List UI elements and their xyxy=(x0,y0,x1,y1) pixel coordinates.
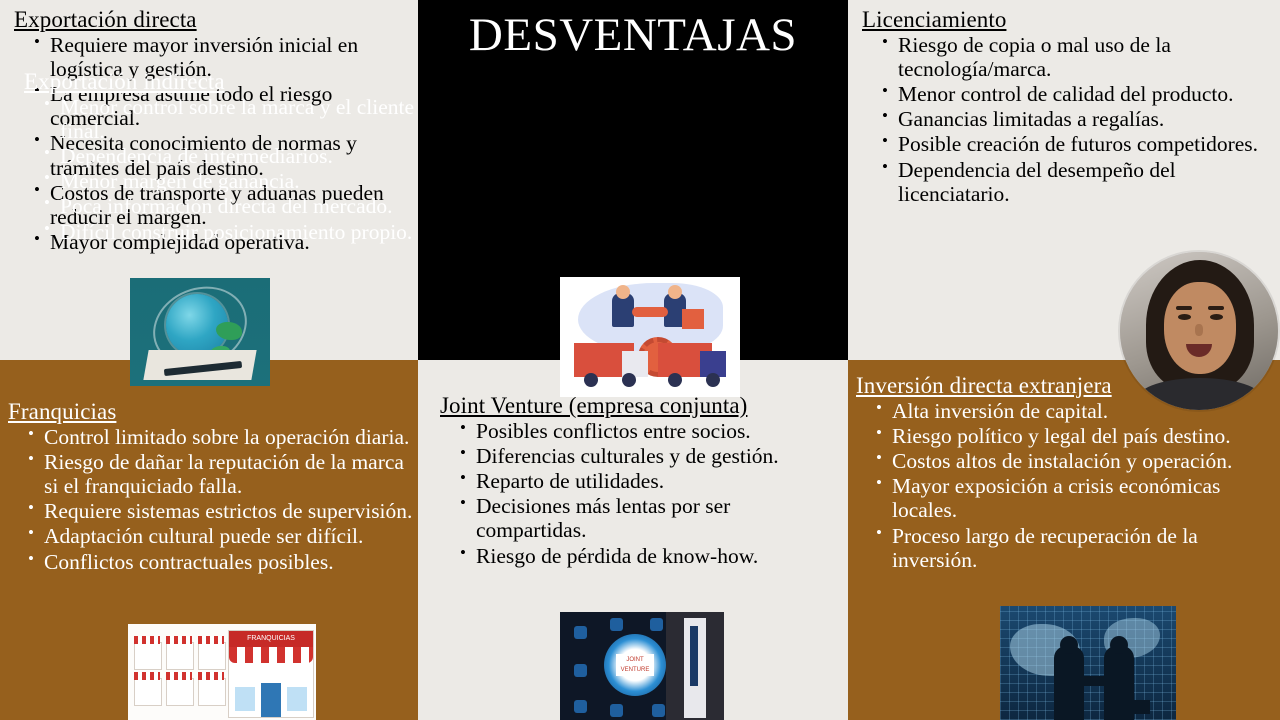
silhouette-head-icon xyxy=(1060,636,1078,654)
presenter-eyebrow xyxy=(1208,306,1224,310)
bullet-list-joint-venture: Posibles conflictos entre socios. Difere… xyxy=(440,419,840,567)
list-item: Riesgo de copia o mal uso de la tecnolog… xyxy=(882,33,1262,81)
network-node-icon xyxy=(650,618,663,631)
list-item: Posibles conflictos entre socios. xyxy=(460,419,840,443)
list-item: Ganancias limitadas a regalías. xyxy=(882,107,1262,131)
network-node-icon xyxy=(574,700,587,713)
network-node-icon xyxy=(574,664,587,677)
slide-title: DESVENTAJAS xyxy=(418,12,848,59)
wheel-icon xyxy=(584,373,598,387)
store-icon xyxy=(198,678,226,706)
store-icon xyxy=(134,642,162,670)
wheel-icon xyxy=(706,373,720,387)
businessman-tie xyxy=(690,626,698,686)
list-item: Control limitado sobre la operación diar… xyxy=(28,425,416,449)
heading-exportacion-directa: Exportación directa xyxy=(14,8,412,32)
store-awning xyxy=(229,647,313,663)
store-window xyxy=(235,687,255,711)
list-item: Diferencias culturales y de gestión. xyxy=(460,444,840,468)
bullet-list-exportacion-indirecta: Menor control sobre la marca y el client… xyxy=(24,95,424,243)
list-item: Decisiones más lentas por ser compartida… xyxy=(460,494,840,542)
presenter-eye xyxy=(1178,314,1191,320)
heading-licenciamiento: Licenciamiento xyxy=(862,8,1262,32)
list-item: Menor control de calidad del producto. xyxy=(882,82,1262,106)
list-item: Riesgo de dañar la reputación de la marc… xyxy=(28,450,416,498)
list-item: Posible creación de futuros competidores… xyxy=(882,132,1262,156)
person-head-icon xyxy=(668,285,682,299)
block-exportacion-indirecta: Exportación indirecta Menor control sobr… xyxy=(24,70,424,245)
list-item: Proceso largo de recuperación de la inve… xyxy=(876,524,1276,572)
heading-joint-venture: Joint Venture (empresa conjunta) xyxy=(440,394,840,418)
package-icon xyxy=(682,309,704,329)
store-icon xyxy=(134,678,162,706)
globe-icon xyxy=(166,294,228,356)
heading-franquicias: Franquicias xyxy=(8,400,416,424)
network-node-icon xyxy=(610,704,623,717)
briefcase-icon xyxy=(1134,700,1150,714)
network-node-icon xyxy=(574,626,587,639)
store-sign-label: FRANQUICIAS xyxy=(229,631,313,647)
list-item: Dependencia de intermediarios. xyxy=(44,144,424,168)
joint-venture-network-image: JOINT VENTURE xyxy=(560,612,724,720)
heading-exportacion-indirecta: Exportación indirecta xyxy=(24,70,424,94)
block-franquicias: Franquicias Control limitado sobre la op… xyxy=(8,400,416,575)
list-item: Adaptación cultural puede ser difícil. xyxy=(28,524,416,548)
slide-title-container: DESVENTAJAS xyxy=(418,12,848,59)
store-door xyxy=(261,683,281,717)
list-item: Dependencia del desempeño del licenciata… xyxy=(882,158,1262,206)
person-head-icon xyxy=(616,285,630,299)
list-item: Difícil construir posicionamiento propio… xyxy=(44,220,424,244)
main-store-icon: FRANQUICIAS xyxy=(228,630,314,718)
list-item: Reparto de utilidades. xyxy=(460,469,840,493)
handshake-icon xyxy=(632,307,668,317)
franchise-stores-image: FRANQUICIAS xyxy=(128,624,316,720)
presenter-eye xyxy=(1210,314,1223,320)
handshake-icon xyxy=(1080,676,1110,686)
presenter-eyebrow xyxy=(1176,306,1192,310)
presenter-nose xyxy=(1195,324,1203,336)
list-item: Riesgo de pérdida de know-how. xyxy=(460,544,840,568)
store-window xyxy=(287,687,307,711)
presentation-slide: DESVENTAJAS Exportación directa Requiere… xyxy=(0,0,1280,720)
store-icon xyxy=(166,642,194,670)
globe-landmass xyxy=(216,322,242,340)
store-icon xyxy=(198,642,226,670)
wheel-icon xyxy=(668,373,682,387)
list-item: Conflictos contractuales posibles. xyxy=(28,550,416,574)
block-joint-venture: Joint Venture (empresa conjunta) Posible… xyxy=(440,394,840,569)
list-item: Mayor exposición a crisis económicas loc… xyxy=(876,474,1276,522)
silhouette-head-icon xyxy=(1110,636,1128,654)
globe-and-document-image xyxy=(130,278,270,386)
list-item: Riesgo político y legal del país destino… xyxy=(876,424,1276,448)
bullet-list-franquicias: Control limitado sobre la operación diar… xyxy=(8,425,416,573)
block-licenciamiento: Licenciamiento Riesgo de copia o mal uso… xyxy=(862,8,1262,207)
store-icon xyxy=(166,678,194,706)
wheel-icon xyxy=(622,373,636,387)
network-node-icon xyxy=(652,704,665,717)
list-item: Menor margen de ganancia. xyxy=(44,169,424,193)
joint-venture-label: JOINT VENTURE xyxy=(616,654,654,676)
bullet-list-licenciamiento: Riesgo de copia o mal uso de la tecnolog… xyxy=(862,33,1262,206)
presenter-webcam[interactable] xyxy=(1120,252,1278,410)
list-item: Menor control sobre la marca y el client… xyxy=(44,95,424,143)
presenter-shoulders xyxy=(1138,378,1262,410)
handshake-delivery-trucks-image xyxy=(560,277,740,397)
list-item: Costos altos de instalación y operación. xyxy=(876,449,1276,473)
small-store-grid xyxy=(132,632,224,718)
world-map-handshake-image xyxy=(1000,606,1176,720)
list-item: Requiere sistemas estrictos de supervisi… xyxy=(28,499,416,523)
list-item: Poca información directa del mercado. xyxy=(44,194,424,218)
bullet-list-inversion-directa: Alta inversión de capital. Riesgo políti… xyxy=(856,399,1276,572)
network-node-icon xyxy=(610,618,623,631)
